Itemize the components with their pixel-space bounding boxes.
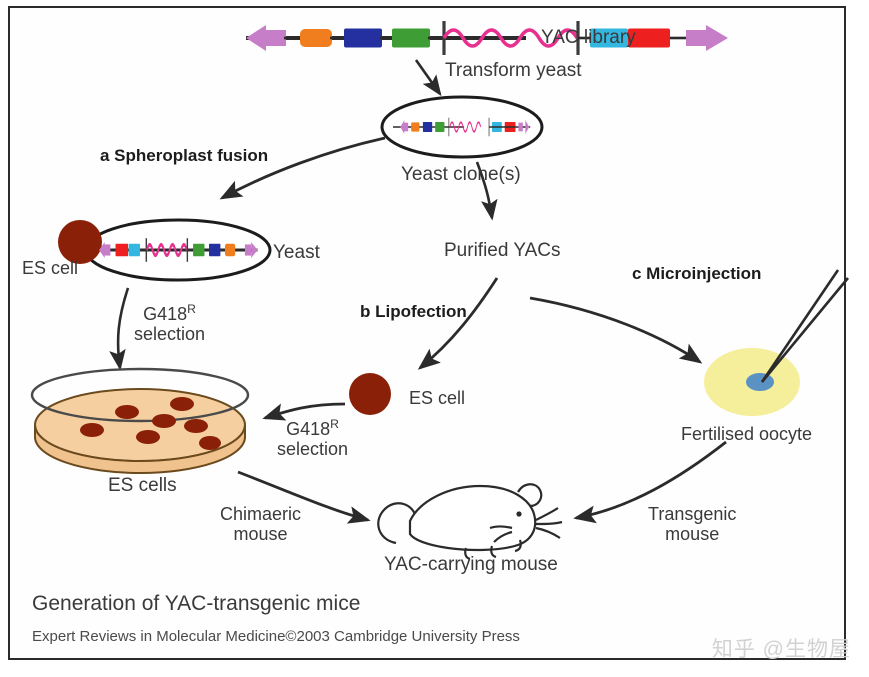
label-yac-carrying-mouse: YAC-carrying mouse xyxy=(384,554,558,575)
label-fertilised-oocyte: Fertilised oocyte xyxy=(681,424,812,444)
label-purified-yacs: Purified YACs xyxy=(444,240,561,261)
label-route-a-spheroplast-fusion: a Spheroplast fusion xyxy=(100,146,268,165)
label-yac-library: YAC library xyxy=(541,27,636,48)
label-yeast-clones: Yeast clone(s) xyxy=(401,164,521,185)
figure-canvas: YAC library Transform yeast Yeast clone(… xyxy=(0,0,869,677)
selection-text-b: selection xyxy=(277,439,348,459)
chimaeric-line2: mouse xyxy=(234,524,288,544)
label-chimaeric-mouse: Chimaeric mouse xyxy=(220,504,301,544)
figure-title: Generation of YAC-transgenic mice xyxy=(32,592,360,616)
label-route-c-microinjection: c Microinjection xyxy=(632,264,761,283)
g418-superscript-b: R xyxy=(330,417,339,431)
label-es-cell-b: ES cell xyxy=(409,388,465,408)
label-transform-yeast: Transform yeast xyxy=(445,60,582,81)
label-transgenic-mouse: Transgenic mouse xyxy=(648,504,736,544)
transgenic-line1: Transgenic xyxy=(648,504,736,524)
label-route-b-lipofection: b Lipofection xyxy=(360,302,467,321)
g418-text-b: G418 xyxy=(286,419,330,439)
watermark: 知乎 @生物屋 xyxy=(712,633,851,663)
label-g418-selection-b: G418R selection xyxy=(277,418,348,459)
label-es-cell-a: ES cell xyxy=(22,258,78,278)
g418-text-a: G418 xyxy=(143,304,187,324)
label-es-cells-dish: ES cells xyxy=(108,475,177,496)
g418-superscript-a: R xyxy=(187,302,196,316)
label-yeast: Yeast xyxy=(273,242,320,263)
selection-text-a: selection xyxy=(134,324,205,344)
transgenic-line2: mouse xyxy=(665,524,719,544)
chimaeric-line1: Chimaeric xyxy=(220,504,301,524)
figure-credit: Expert Reviews in Molecular Medicine©200… xyxy=(32,628,520,645)
label-g418-selection-a: G418R selection xyxy=(134,303,205,344)
